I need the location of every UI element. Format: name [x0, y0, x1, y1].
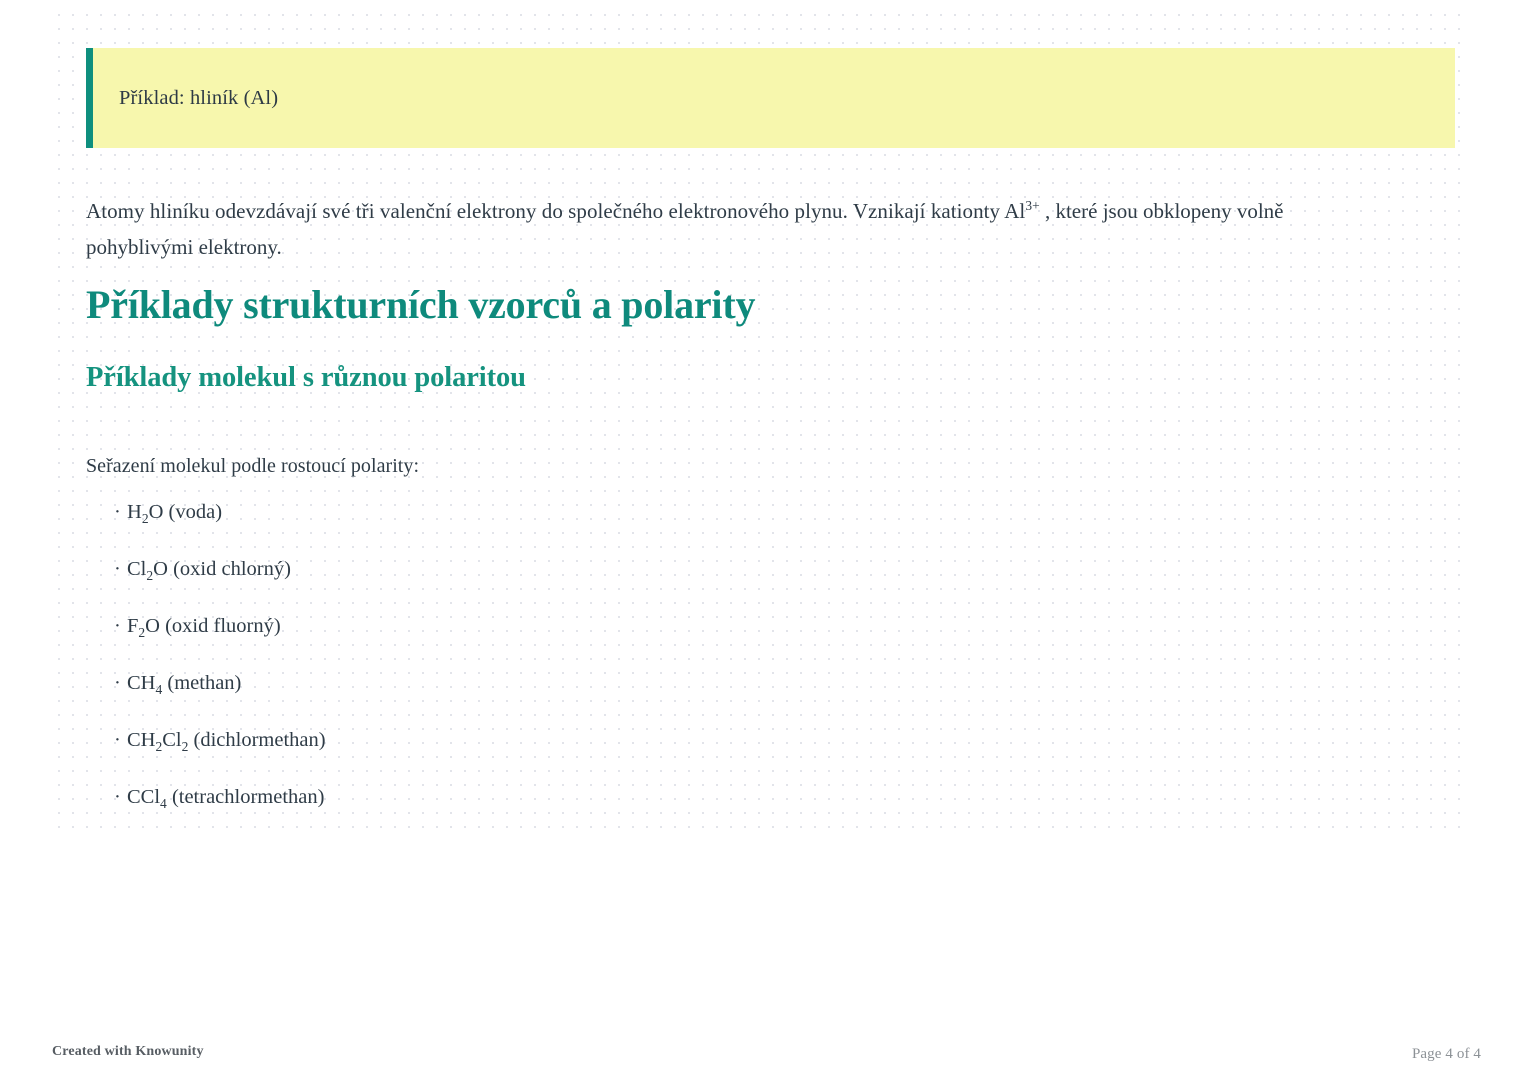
list-item: ·CH2Cl2 (dichlormethan) — [114, 712, 326, 769]
molecule-formula: CH4 — [127, 672, 162, 694]
lead-paragraph: Seřazení molekul podle rostoucí polarity… — [86, 448, 1186, 484]
intro-paragraph-part1: Atomy hliníku odevzdávají své tři valenč… — [86, 199, 1025, 223]
footer-credit: Created with Knowunity — [52, 1044, 204, 1060]
molecule-list: ·H2O (voda)·Cl2O (oxid chlorný)·F2O (oxi… — [114, 484, 326, 826]
formula-symbol: O — [149, 501, 164, 523]
bullet-dot-icon: · — [114, 541, 127, 598]
formula-symbol: H — [127, 501, 142, 523]
cation-charge-superscript: 3+ — [1025, 198, 1039, 213]
molecule-name: (dichlormethan) — [188, 729, 325, 751]
example-callout-box: Příklad: hliník (Al) — [86, 48, 1455, 148]
callout-text: Příklad: hliník (Al) — [86, 87, 278, 110]
formula-symbol: O — [145, 615, 160, 637]
molecule-formula: CCl4 — [127, 786, 167, 808]
list-item: ·H2O (voda) — [114, 484, 326, 541]
molecule-formula: H2O — [127, 501, 163, 523]
formula-subscript: 2 — [142, 511, 149, 526]
molecule-formula: Cl2O — [127, 558, 168, 580]
molecule-name: (tetrachlormethan) — [167, 786, 325, 808]
bullet-dot-icon: · — [114, 712, 127, 769]
molecule-name: (oxid chlorný) — [168, 558, 291, 580]
bullet-dot-icon: · — [114, 769, 127, 826]
molecule-name: (oxid fluorný) — [160, 615, 281, 637]
formula-symbol: CCl — [127, 786, 160, 808]
list-item: ·CCl4 (tetrachlormethan) — [114, 769, 326, 826]
page-title: Příklady strukturních vzorců a polarity — [86, 281, 755, 328]
formula-subscript: 4 — [160, 796, 167, 811]
section-subtitle: Příklady molekul s různou polaritou — [86, 362, 526, 394]
list-item: ·CH4 (methan) — [114, 655, 326, 712]
bullet-dot-icon: · — [114, 484, 127, 541]
formula-symbol: CH — [127, 729, 155, 751]
intro-paragraph: Atomy hliníku odevzdávají své tři valenč… — [86, 193, 1386, 265]
bullet-dot-icon: · — [114, 598, 127, 655]
molecule-formula: CH2Cl2 — [127, 729, 188, 751]
list-item: ·Cl2O (oxid chlorný) — [114, 541, 326, 598]
list-item: ·F2O (oxid fluorný) — [114, 598, 326, 655]
molecule-name: (voda) — [163, 501, 222, 523]
formula-symbol: F — [127, 615, 138, 637]
formula-symbol: O — [153, 558, 168, 580]
footer-page-number: Page 4 of 4 — [1412, 1046, 1481, 1063]
molecule-formula: F2O — [127, 615, 160, 637]
molecule-name: (methan) — [162, 672, 241, 694]
callout-accent-bar — [86, 48, 93, 148]
document-page: Příklad: hliník (Al) Atomy hliníku odevz… — [0, 0, 1527, 1080]
formula-symbol: Cl — [127, 558, 146, 580]
formula-symbol: CH — [127, 672, 155, 694]
formula-symbol: Cl — [162, 729, 181, 751]
bullet-dot-icon: · — [114, 655, 127, 712]
